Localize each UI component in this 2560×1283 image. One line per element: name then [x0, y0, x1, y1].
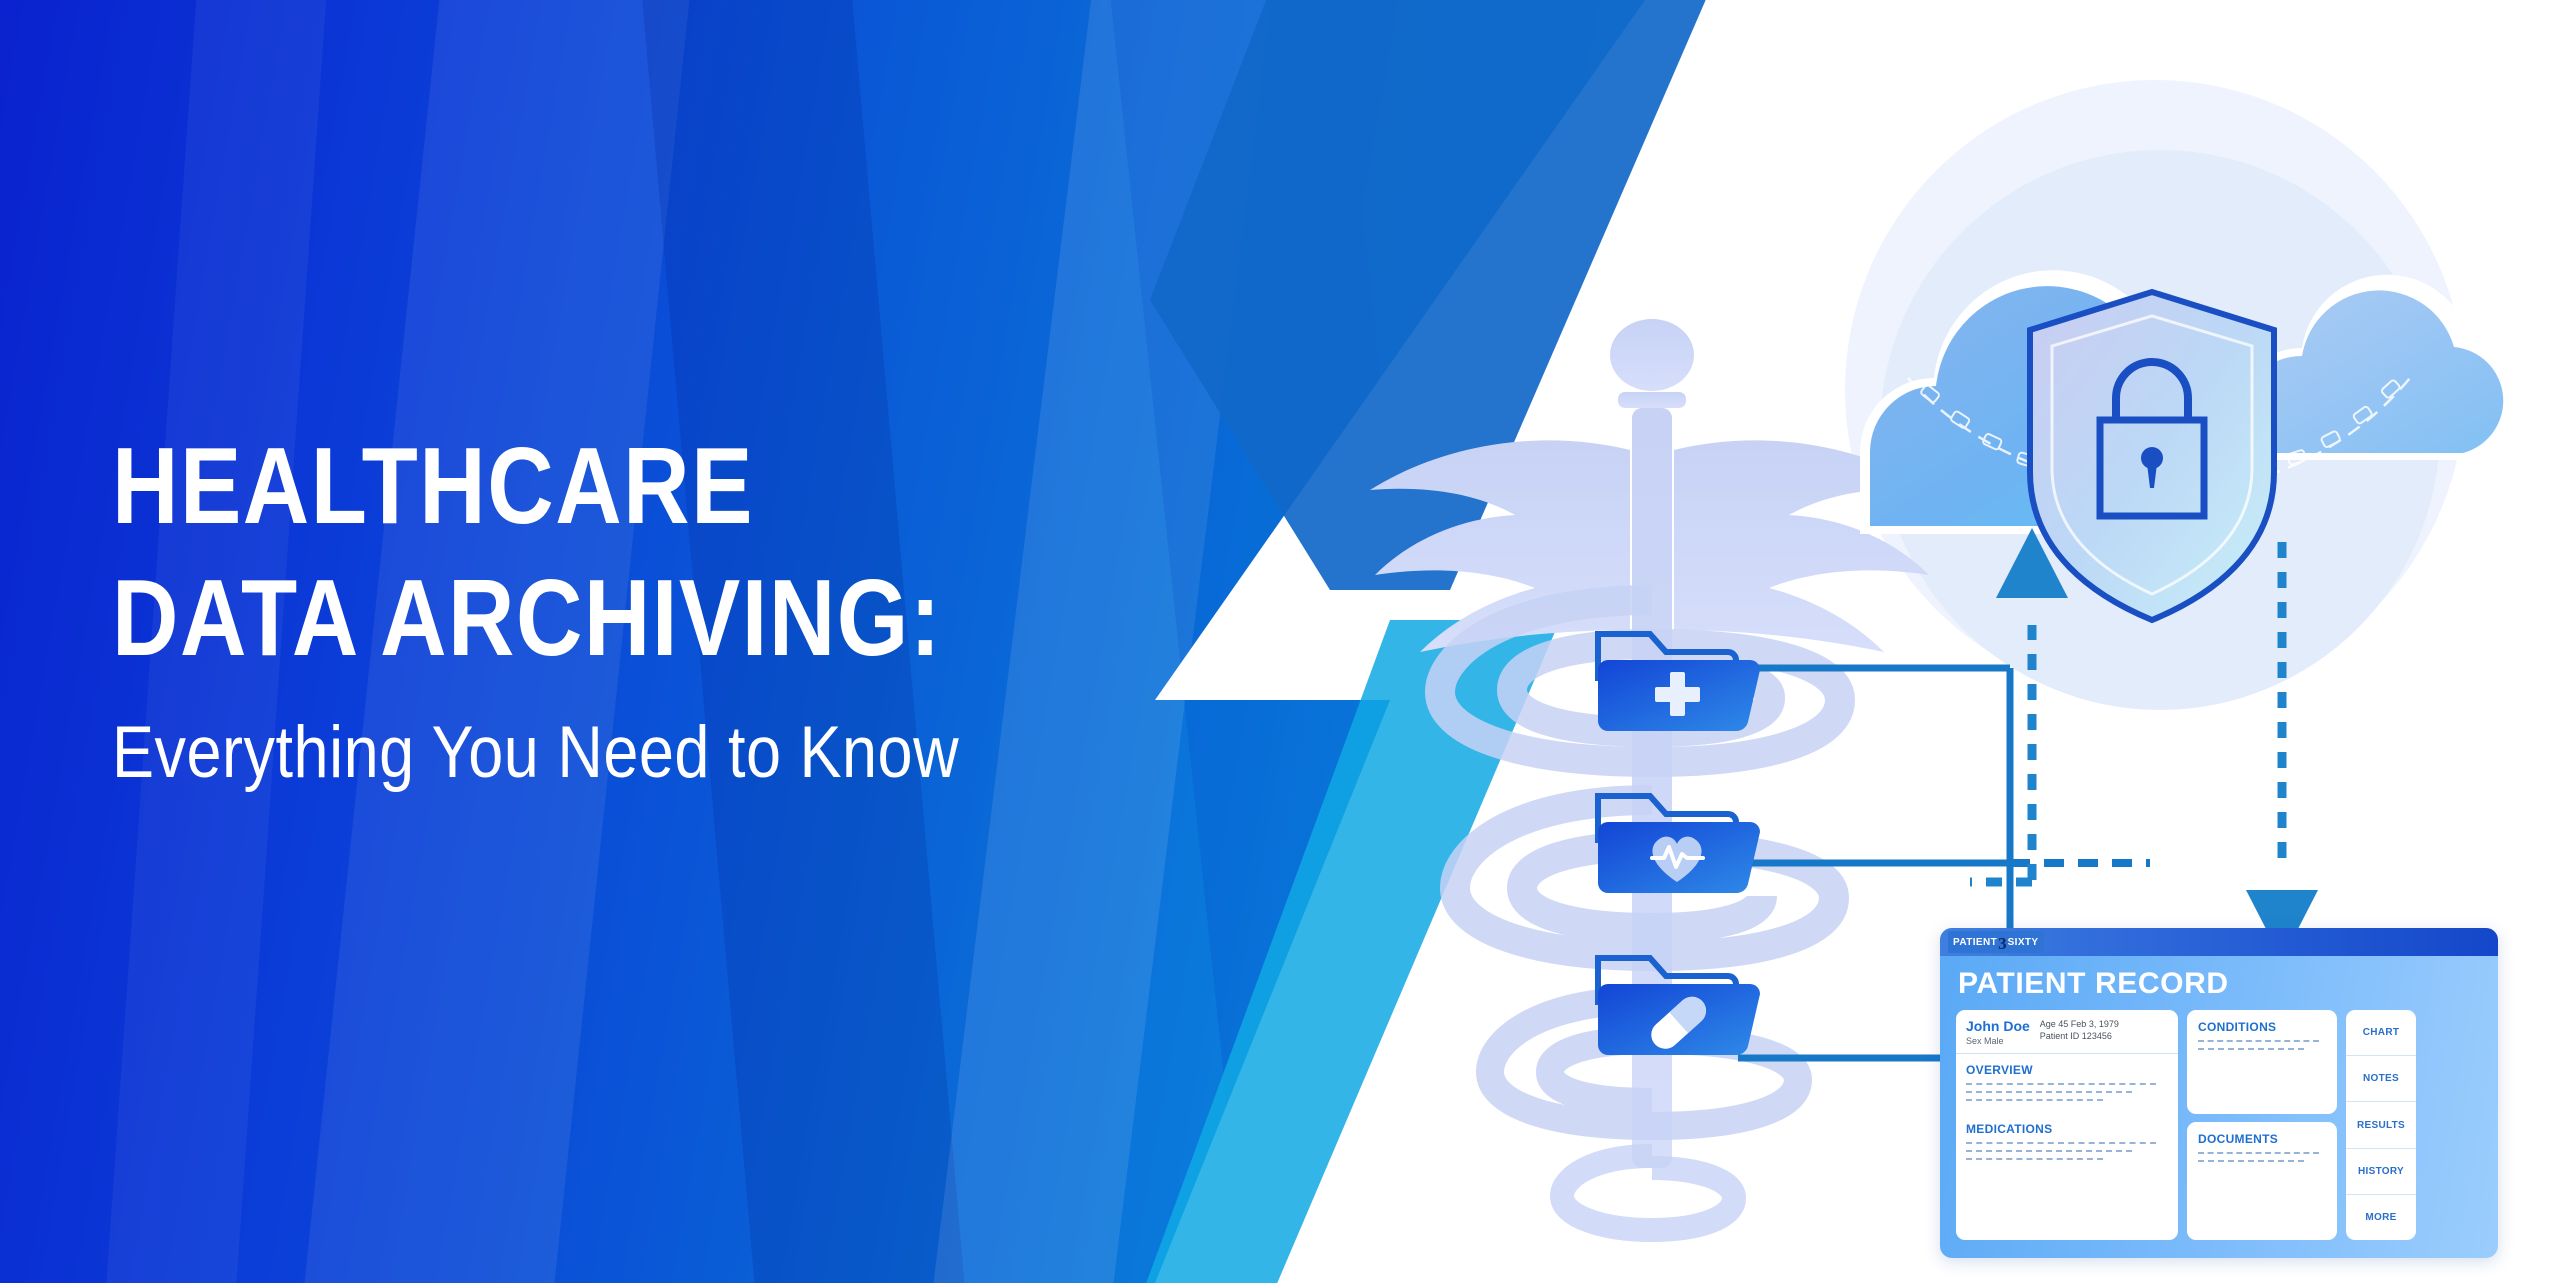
tab-more[interactable]: MORE — [2346, 1195, 2416, 1240]
patient-overview-panel: John Doe Sex Male Age 45 Feb 3, 1979 Pat… — [1956, 1010, 2178, 1240]
placeholder-line — [2198, 1040, 2319, 1042]
headline-line-1: HEALTHCARE — [112, 432, 959, 541]
patient-age-dob: Age 45 Feb 3, 1979 — [2040, 1019, 2119, 1029]
data-flow-arrows — [1960, 520, 2380, 970]
placeholder-line — [1966, 1150, 2132, 1152]
section-heading: OVERVIEW — [1966, 1063, 2168, 1077]
card-topbar: PATIENT 3 SIXTY — [1940, 928, 2498, 956]
section-medications: MEDICATIONS — [1956, 1113, 2178, 1160]
record-tabs[interactable]: CHART NOTES RESULTS HISTORY MORE — [2346, 1010, 2416, 1240]
logo-three-mark: 3 — [1998, 935, 2007, 952]
section-documents: DOCUMENTS — [2187, 1122, 2337, 1240]
section-overview: OVERVIEW — [1956, 1054, 2178, 1101]
placeholder-line — [2198, 1152, 2319, 1154]
placeholder-line — [1966, 1083, 2156, 1085]
folder-stack — [1590, 620, 1800, 1090]
section-heading: MEDICATIONS — [1966, 1122, 2168, 1136]
card-title: PATIENT RECORD — [1958, 967, 2498, 1001]
placeholder-line — [2198, 1160, 2304, 1162]
patient-name: John Doe — [1966, 1018, 2030, 1034]
headline-subtitle: Everything You Need to Know — [112, 711, 959, 795]
section-conditions: CONDITIONS — [2187, 1010, 2337, 1114]
patient-sex: Sex Male — [1966, 1036, 2030, 1046]
patient-identity-row: John Doe Sex Male Age 45 Feb 3, 1979 Pat… — [1956, 1010, 2178, 1054]
tab-results[interactable]: RESULTS — [2346, 1102, 2416, 1148]
folder-heart-pulse — [1598, 796, 1760, 893]
section-heading: CONDITIONS — [2198, 1020, 2327, 1034]
folder-medical-cross — [1598, 634, 1760, 731]
section-heading: DOCUMENTS — [2198, 1132, 2327, 1146]
patient-sixty-logo: PATIENT 3 SIXTY — [1948, 931, 2044, 953]
tab-chart[interactable]: CHART — [2346, 1010, 2416, 1056]
placeholder-line — [1966, 1099, 2103, 1101]
logo-suffix: SIXTY — [2008, 937, 2039, 948]
headline-line-2: DATA ARCHIVING: — [112, 564, 959, 673]
card-body: John Doe Sex Male Age 45 Feb 3, 1979 Pat… — [1940, 1001, 2498, 1252]
placeholder-line — [1966, 1142, 2156, 1144]
headline-block: HEALTHCARE DATA ARCHIVING: Everything Yo… — [112, 432, 959, 783]
tab-notes[interactable]: NOTES — [2346, 1056, 2416, 1102]
arrow-up-icon — [1996, 528, 2068, 598]
tab-history[interactable]: HISTORY — [2346, 1149, 2416, 1195]
card-middle-column: CONDITIONS DOCUMENTS — [2187, 1010, 2337, 1240]
placeholder-line — [1966, 1091, 2132, 1093]
placeholder-line — [2198, 1048, 2304, 1050]
logo-prefix: PATIENT — [1953, 937, 1997, 948]
banner-canvas: HEALTHCARE DATA ARCHIVING: Everything Yo… — [0, 0, 2560, 1283]
patient-id: Patient ID 123456 — [2040, 1031, 2119, 1041]
placeholder-line — [1966, 1158, 2103, 1160]
folder-medications — [1598, 958, 1760, 1055]
patient-record-card[interactable]: PATIENT 3 SIXTY PATIENT RECORD John Doe … — [1940, 928, 2498, 1258]
